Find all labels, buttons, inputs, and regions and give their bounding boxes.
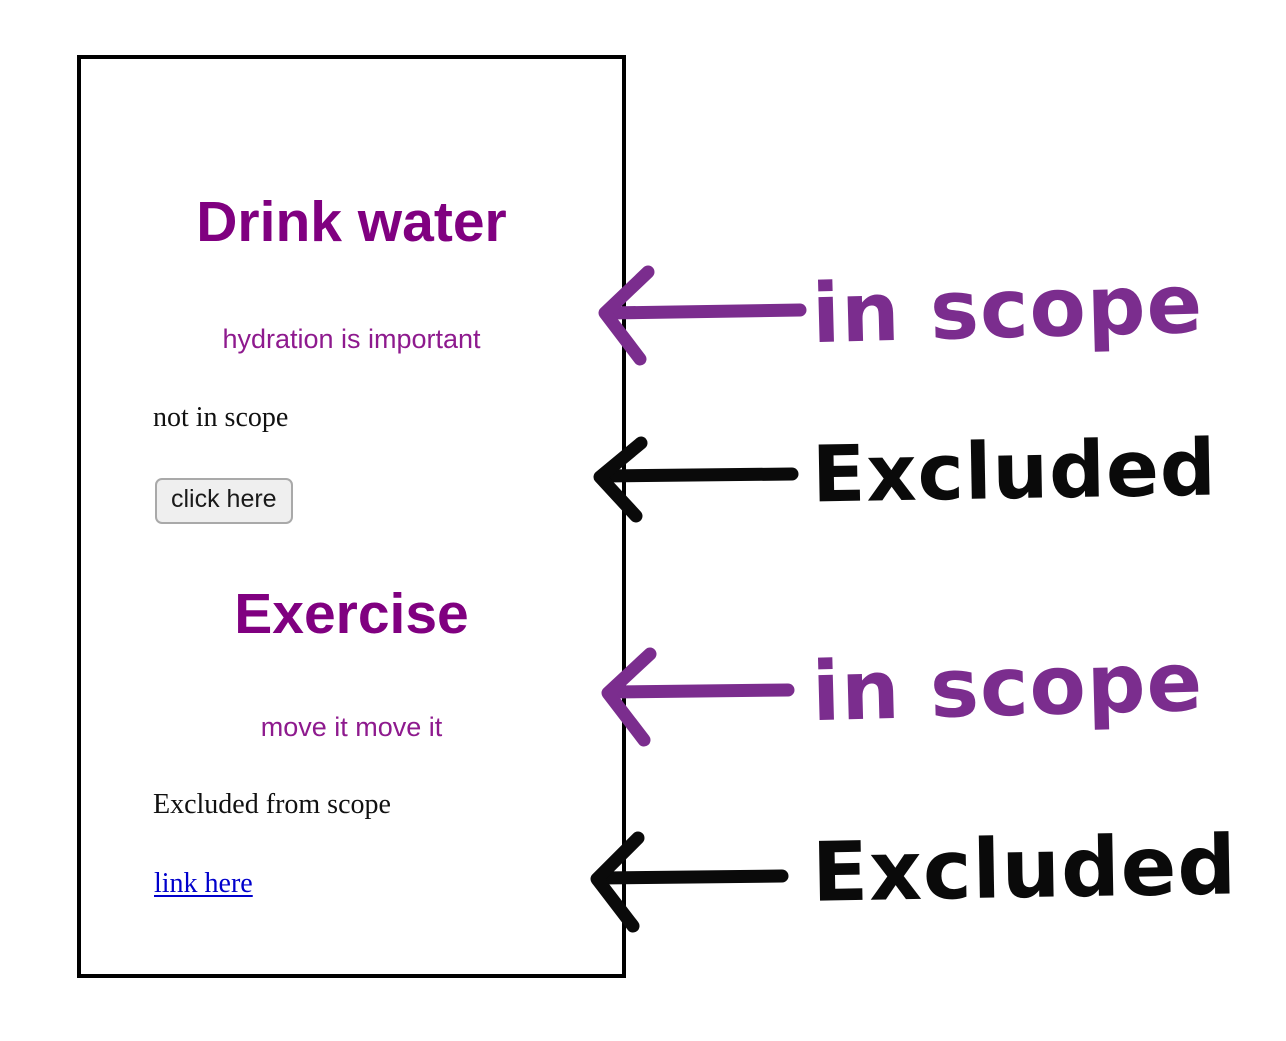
annotation-arrow-2-excluded xyxy=(600,443,792,516)
annotation-arrow-3-in-scope xyxy=(608,654,788,740)
annotation-label-1: in scope xyxy=(811,257,1204,362)
section-body-not-in-scope: not in scope xyxy=(153,402,288,434)
section-body-excluded-from-scope: Excluded from scope xyxy=(153,789,391,821)
section-heading-exercise: Exercise xyxy=(81,585,622,645)
annotation-label-4: Excluded xyxy=(811,818,1238,920)
section-subtitle-move-it: move it move it xyxy=(81,712,622,743)
section-subtitle-hydration: hydration is important xyxy=(81,324,622,355)
link-here-link[interactable]: link here xyxy=(154,868,253,900)
annotation-label-3: in scope xyxy=(811,635,1204,740)
annotation-arrow-1-in-scope xyxy=(605,272,800,359)
rendered-page-frame: Drink water hydration is important not i… xyxy=(77,55,626,978)
section-heading-drink-water: Drink water xyxy=(81,193,622,253)
click-here-button[interactable]: click here xyxy=(155,478,293,524)
annotation-label-2: Excluded xyxy=(811,423,1217,520)
page-content: Drink water hydration is important not i… xyxy=(81,59,622,974)
